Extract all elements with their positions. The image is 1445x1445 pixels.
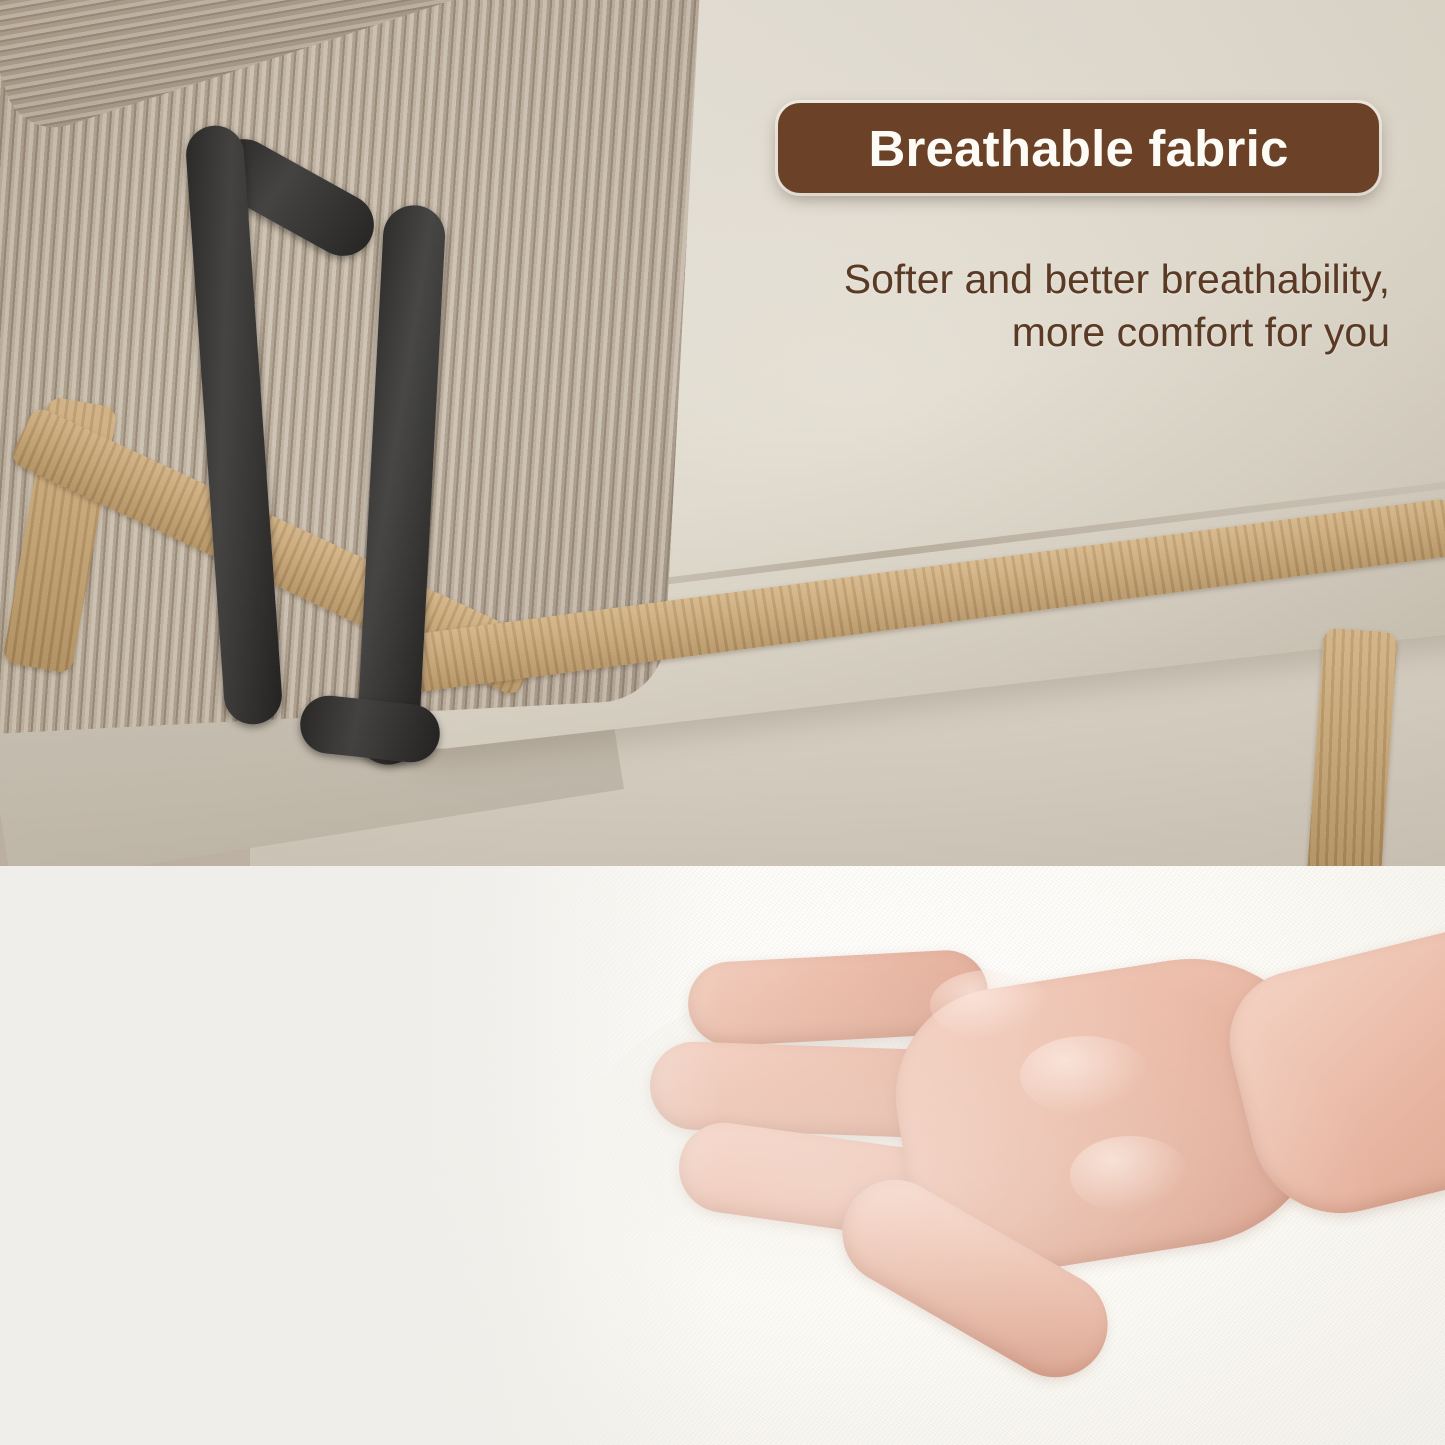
badge-label: Breathable fabric — [868, 119, 1288, 178]
product-feature-image: Breathable fabric Softer and better brea… — [0, 0, 1445, 1445]
panel-high-density-rebound-sponge: High density rebound sponge Provides muc… — [0, 866, 1445, 1445]
panel-breathable-fabric: Breathable fabric Softer and better brea… — [0, 0, 1445, 866]
subtitle-breathable-fabric: Softer and better breathability, more co… — [700, 253, 1390, 360]
photo-left-fade — [300, 866, 720, 1445]
badge-breathable-fabric: Breathable fabric — [778, 103, 1379, 193]
subtitle-line-2: more comfort for you — [700, 306, 1390, 359]
subtitle-line-1: Softer and better breathability, — [700, 253, 1390, 306]
